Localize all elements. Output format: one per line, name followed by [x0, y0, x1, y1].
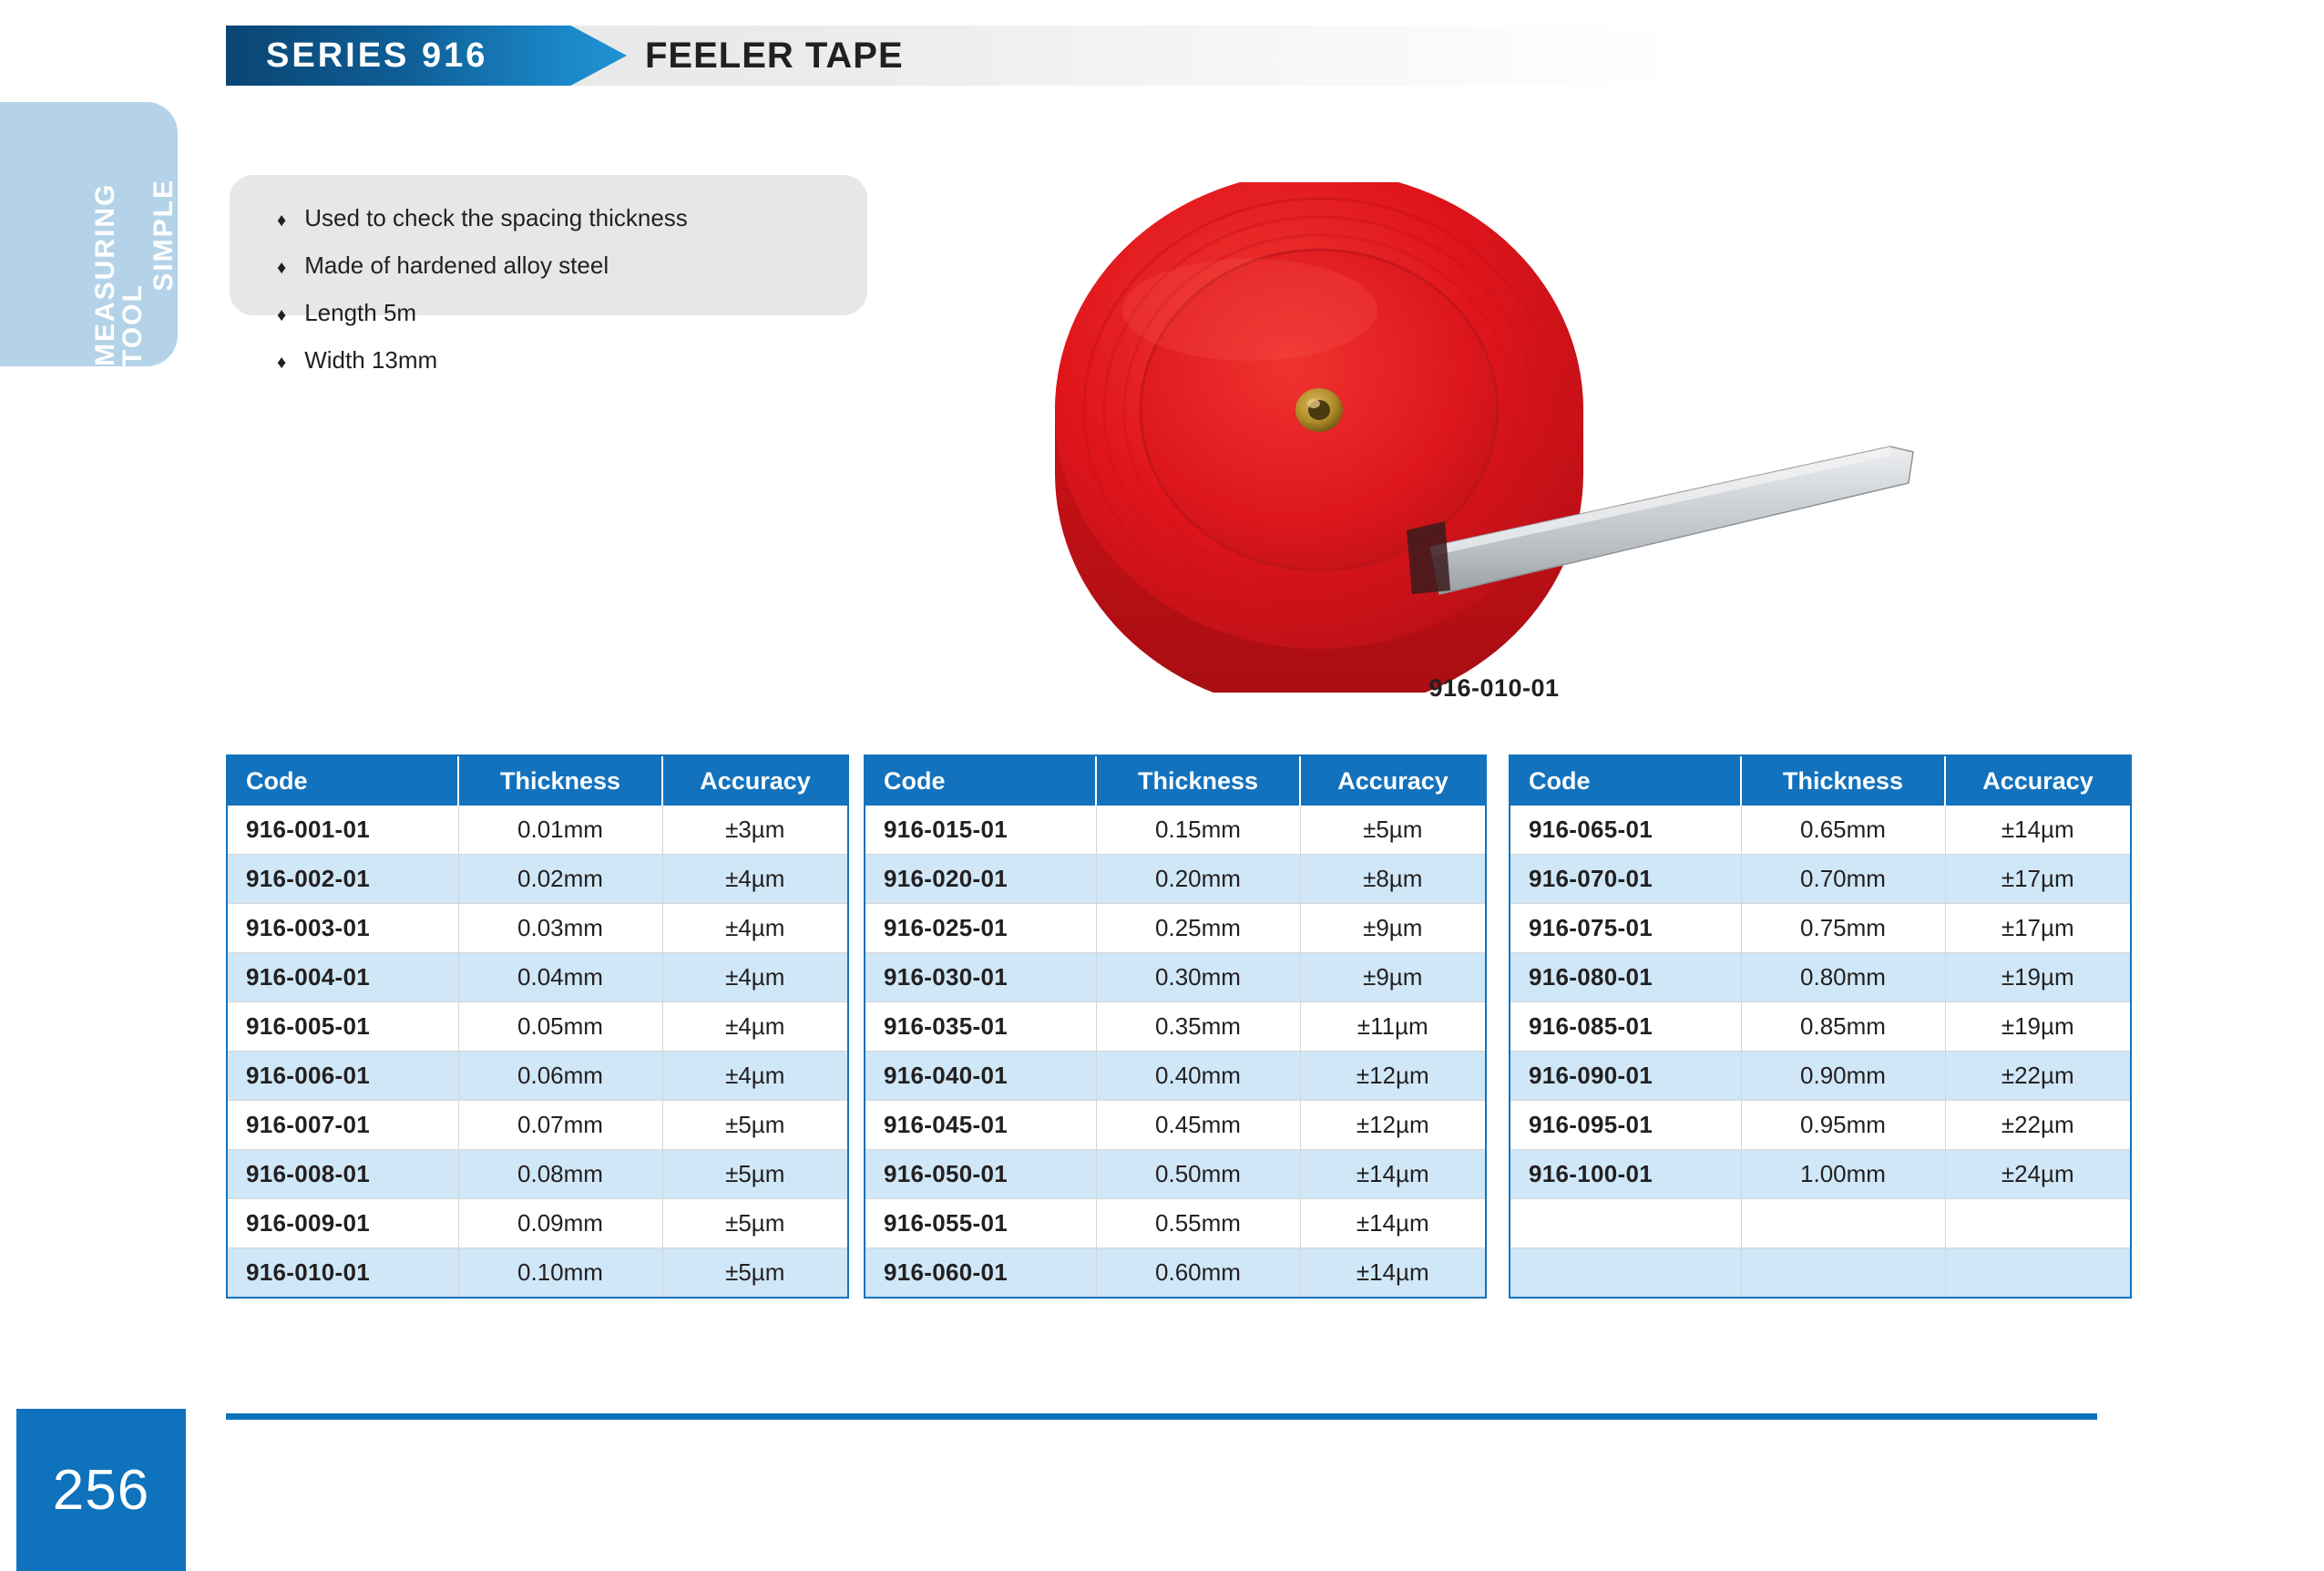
spec-table-group-1: Code Thickness Accuracy 916-001-010.01mm…	[226, 755, 849, 1299]
column-header-accuracy: Accuracy	[1300, 756, 1485, 806]
table-row: 916-005-010.05mm±4µm	[228, 1002, 847, 1052]
page-title: FEELER TAPE	[645, 26, 904, 86]
cell-code: 916-060-01	[865, 1248, 1096, 1298]
cell-accuracy: ±5µm	[662, 1101, 847, 1150]
column-header-thickness: Thickness	[1096, 756, 1300, 806]
cell-code: 916-004-01	[228, 953, 458, 1002]
page-number: 256	[53, 1458, 149, 1523]
cell-thickness: 0.60mm	[1096, 1248, 1300, 1298]
table-row: 916-004-010.04mm±4µm	[228, 953, 847, 1002]
cell-accuracy: ±4µm	[662, 1052, 847, 1101]
cell-accuracy: ±14µm	[1300, 1150, 1485, 1199]
table-row: 916-070-010.70mm±17µm	[1510, 855, 2130, 904]
cell-accuracy: ±4µm	[662, 953, 847, 1002]
cell-accuracy: ±9µm	[1300, 904, 1485, 953]
table-row: 916-030-010.30mm±9µm	[865, 953, 1485, 1002]
feature-item: ♦ Made of hardened alloy steel	[230, 252, 867, 280]
cell-code: 916-090-01	[1510, 1052, 1741, 1101]
table-row: 916-009-010.09mm±5µm	[228, 1199, 847, 1248]
cell-code: 916-085-01	[1510, 1002, 1741, 1052]
cell-thickness: 0.85mm	[1741, 1002, 1945, 1052]
cell-code: 916-080-01	[1510, 953, 1741, 1002]
cell-code: 916-015-01	[865, 806, 1096, 855]
cell-code: 916-065-01	[1510, 806, 1741, 855]
feature-text: Width 13mm	[304, 346, 437, 375]
cell-accuracy: ±3µm	[662, 806, 847, 855]
cell-thickness: 0.35mm	[1096, 1002, 1300, 1052]
cell-thickness: 0.55mm	[1096, 1199, 1300, 1248]
series-label: SERIES 916	[226, 36, 487, 76]
table-row: 916-003-010.03mm±4µm	[228, 904, 847, 953]
cell-accuracy	[1945, 1248, 2130, 1298]
diamond-bullet-icon: ♦	[277, 306, 286, 324]
cell-thickness: 0.70mm	[1741, 855, 1945, 904]
cell-code	[1510, 1248, 1741, 1298]
table-row: 916-075-010.75mm±17µm	[1510, 904, 2130, 953]
cell-thickness: 0.25mm	[1096, 904, 1300, 953]
page-number-block: 256	[16, 1409, 186, 1571]
cell-code: 916-002-01	[228, 855, 458, 904]
cell-code: 916-025-01	[865, 904, 1096, 953]
cell-accuracy: ±8µm	[1300, 855, 1485, 904]
cell-code: 916-095-01	[1510, 1101, 1741, 1150]
feature-text: Used to check the spacing thickness	[304, 204, 688, 232]
cell-thickness: 0.80mm	[1741, 953, 1945, 1002]
feature-text: Length 5m	[304, 299, 416, 327]
cell-accuracy: ±14µm	[1945, 806, 2130, 855]
table-row: 916-025-010.25mm±9µm	[865, 904, 1485, 953]
cell-code: 916-070-01	[1510, 855, 1741, 904]
table-row: 916-100-011.00mm±24µm	[1510, 1150, 2130, 1199]
product-caption: 916-010-01	[1039, 674, 1950, 703]
cell-accuracy: ±12µm	[1300, 1052, 1485, 1101]
feature-item: ♦ Width 13mm	[230, 346, 867, 375]
cell-accuracy: ±11µm	[1300, 1002, 1485, 1052]
cell-accuracy: ±17µm	[1945, 855, 2130, 904]
table-header-row: Code Thickness Accuracy	[1510, 756, 2130, 806]
diamond-bullet-icon: ♦	[277, 259, 286, 277]
cell-accuracy	[1945, 1199, 2130, 1248]
series-chevron: SERIES 916	[226, 26, 627, 86]
table-row: 916-007-010.07mm±5µm	[228, 1101, 847, 1150]
table-row: 916-045-010.45mm±12µm	[865, 1101, 1485, 1150]
cell-accuracy: ±9µm	[1300, 953, 1485, 1002]
cell-accuracy: ±19µm	[1945, 1002, 2130, 1052]
cell-thickness: 0.95mm	[1741, 1101, 1945, 1150]
cell-thickness	[1741, 1199, 1945, 1248]
cell-code: 916-006-01	[228, 1052, 458, 1101]
table-row: 916-035-010.35mm±11µm	[865, 1002, 1485, 1052]
table-row: 916-095-010.95mm±22µm	[1510, 1101, 2130, 1150]
spec-table-group-3: Code Thickness Accuracy 916-065-010.65mm…	[1509, 755, 2132, 1299]
cell-accuracy: ±5µm	[662, 1248, 847, 1298]
cell-thickness: 0.65mm	[1741, 806, 1945, 855]
cell-code: 916-050-01	[865, 1150, 1096, 1199]
cell-code: 916-045-01	[865, 1101, 1096, 1150]
cell-thickness: 0.15mm	[1096, 806, 1300, 855]
cell-code: 916-003-01	[228, 904, 458, 953]
cell-code: 916-001-01	[228, 806, 458, 855]
table-row: 916-040-010.40mm±12µm	[865, 1052, 1485, 1101]
cell-thickness: 0.45mm	[1096, 1101, 1300, 1150]
diamond-bullet-icon: ♦	[277, 211, 286, 230]
column-header-accuracy: Accuracy	[1945, 756, 2130, 806]
cell-thickness: 0.20mm	[1096, 855, 1300, 904]
feature-item: ♦ Used to check the spacing thickness	[230, 204, 867, 232]
feature-text: Made of hardened alloy steel	[304, 252, 609, 280]
cell-code: 916-020-01	[865, 855, 1096, 904]
cell-code: 916-010-01	[228, 1248, 458, 1298]
cell-thickness: 0.30mm	[1096, 953, 1300, 1002]
product-image	[1039, 182, 1950, 693]
column-header-thickness: Thickness	[1741, 756, 1945, 806]
cell-thickness: 0.02mm	[458, 855, 662, 904]
column-header-thickness: Thickness	[458, 756, 662, 806]
table-row: 916-006-010.06mm±4µm	[228, 1052, 847, 1101]
cell-code: 916-075-01	[1510, 904, 1741, 953]
cell-accuracy: ±19µm	[1945, 953, 2130, 1002]
table-row-empty	[1510, 1248, 2130, 1298]
cell-accuracy: ±12µm	[1300, 1101, 1485, 1150]
category-side-tab: SIMPLE MEASURING TOOL	[0, 102, 178, 366]
cell-accuracy: ±4µm	[662, 1002, 847, 1052]
cell-accuracy: ±22µm	[1945, 1052, 2130, 1101]
cell-thickness: 0.01mm	[458, 806, 662, 855]
cell-thickness: 0.90mm	[1741, 1052, 1945, 1101]
table-row: 916-085-010.85mm±19µm	[1510, 1002, 2130, 1052]
table-row: 916-008-010.08mm±5µm	[228, 1150, 847, 1199]
cell-accuracy: ±5µm	[662, 1150, 847, 1199]
side-tab-label-measuring-tool: MEASURING TOOL	[92, 109, 147, 366]
spec-table-group-2: Code Thickness Accuracy 916-015-010.15mm…	[864, 755, 1487, 1299]
table-row: 916-055-010.55mm±14µm	[865, 1199, 1485, 1248]
cell-accuracy: ±5µm	[662, 1199, 847, 1248]
cell-code: 916-040-01	[865, 1052, 1096, 1101]
table-row: 916-015-010.15mm±5µm	[865, 806, 1485, 855]
table-row: 916-060-010.60mm±14µm	[865, 1248, 1485, 1298]
cell-thickness: 0.40mm	[1096, 1052, 1300, 1101]
cell-accuracy: ±4µm	[662, 904, 847, 953]
column-header-code: Code	[865, 756, 1096, 806]
cell-code: 916-055-01	[865, 1199, 1096, 1248]
cell-code	[1510, 1199, 1741, 1248]
table-header-row: Code Thickness Accuracy	[865, 756, 1485, 806]
table-row: 916-050-010.50mm±14µm	[865, 1150, 1485, 1199]
cell-thickness: 0.06mm	[458, 1052, 662, 1101]
table-row: 916-020-010.20mm±8µm	[865, 855, 1485, 904]
page-header: SERIES 916 FEELER TAPE	[226, 26, 1684, 86]
cell-accuracy: ±22µm	[1945, 1101, 2130, 1150]
column-header-accuracy: Accuracy	[662, 756, 847, 806]
feeler-tape-spool-illustration	[1039, 182, 1950, 693]
cell-thickness: 0.03mm	[458, 904, 662, 953]
specification-tables: Code Thickness Accuracy 916-001-010.01mm…	[0, 755, 2324, 1356]
cell-accuracy: ±14µm	[1300, 1248, 1485, 1298]
cell-accuracy: ±17µm	[1945, 904, 2130, 953]
cell-thickness: 0.05mm	[458, 1002, 662, 1052]
table-row-empty	[1510, 1199, 2130, 1248]
cell-code: 916-007-01	[228, 1101, 458, 1150]
table-row: 916-090-010.90mm±22µm	[1510, 1052, 2130, 1101]
cell-accuracy: ±5µm	[1300, 806, 1485, 855]
cell-code: 916-009-01	[228, 1199, 458, 1248]
column-header-code: Code	[1510, 756, 1741, 806]
side-tab-label-simple: SIMPLE	[150, 179, 178, 292]
cell-accuracy: ±24µm	[1945, 1150, 2130, 1199]
cell-code: 916-100-01	[1510, 1150, 1741, 1199]
cell-accuracy: ±4µm	[662, 855, 847, 904]
feature-item: ♦ Length 5m	[230, 299, 867, 327]
cell-thickness: 1.00mm	[1741, 1150, 1945, 1199]
features-box: ♦ Used to check the spacing thickness ♦ …	[230, 175, 867, 315]
cell-code: 916-035-01	[865, 1002, 1096, 1052]
cell-thickness: 0.50mm	[1096, 1150, 1300, 1199]
cell-thickness: 0.10mm	[458, 1248, 662, 1298]
diamond-bullet-icon: ♦	[277, 354, 286, 372]
table-row: 916-065-010.65mm±14µm	[1510, 806, 2130, 855]
cell-thickness: 0.09mm	[458, 1199, 662, 1248]
table-header-row: Code Thickness Accuracy	[228, 756, 847, 806]
column-header-code: Code	[228, 756, 458, 806]
table-row: 916-010-010.10mm±5µm	[228, 1248, 847, 1298]
table-row: 916-002-010.02mm±4µm	[228, 855, 847, 904]
cell-accuracy: ±14µm	[1300, 1199, 1485, 1248]
table-row: 916-001-010.01mm±3µm	[228, 806, 847, 855]
table-row: 916-080-010.80mm±19µm	[1510, 953, 2130, 1002]
cell-code: 916-030-01	[865, 953, 1096, 1002]
cell-thickness	[1741, 1248, 1945, 1298]
footer-rule	[226, 1413, 2097, 1420]
cell-thickness: 0.75mm	[1741, 904, 1945, 953]
cell-code: 916-008-01	[228, 1150, 458, 1199]
cell-thickness: 0.08mm	[458, 1150, 662, 1199]
cell-code: 916-005-01	[228, 1002, 458, 1052]
cell-thickness: 0.04mm	[458, 953, 662, 1002]
cell-thickness: 0.07mm	[458, 1101, 662, 1150]
